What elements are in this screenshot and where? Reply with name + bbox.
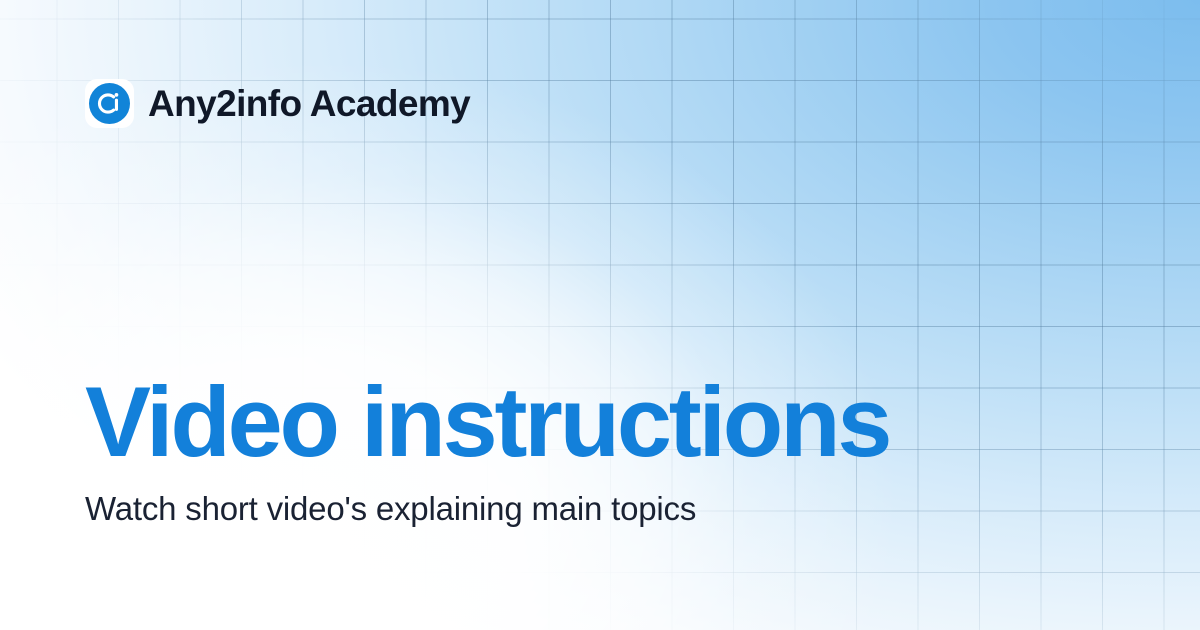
page-title: Video instructions: [85, 372, 1115, 473]
video-instructions-banner: Any2info Academy Video instructions Watc…: [0, 0, 1200, 630]
any2info-ai-monogram-icon: [89, 83, 130, 124]
page-subtitle: Watch short video's explaining main topi…: [85, 489, 1115, 529]
any2info-logo-tile: [85, 79, 134, 128]
brand-name-label: Any2info Academy: [148, 85, 470, 122]
brand-lockup: Any2info Academy: [85, 79, 470, 128]
hero-text-block: Video instructions Watch short video's e…: [85, 372, 1115, 529]
